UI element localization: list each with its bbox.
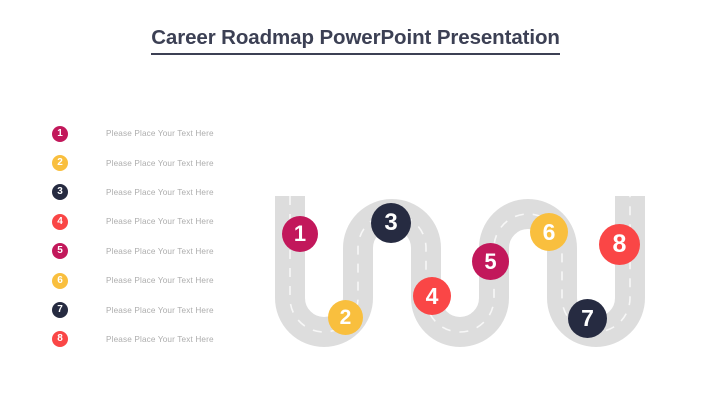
legend-step-badge: 6 <box>52 273 68 289</box>
legend-item-label: Please Place Your Text Here <box>106 247 214 256</box>
legend-step-badge: 3 <box>52 184 68 200</box>
legend-step-badge: 8 <box>52 331 68 347</box>
roadmap-milestone-node[interactable]: 5 <box>472 243 509 280</box>
roadmap-milestone-node[interactable]: 2 <box>328 300 363 335</box>
roadmap-diagram: 12345678 <box>258 186 678 358</box>
roadmap-milestone-node[interactable]: 3 <box>371 203 411 243</box>
legend-item[interactable]: 1Please Place Your Text Here <box>52 119 252 148</box>
legend-item[interactable]: 5Please Place Your Text Here <box>52 237 252 266</box>
legend-item[interactable]: 7Please Place Your Text Here <box>52 295 252 324</box>
legend-item-label: Please Place Your Text Here <box>106 335 214 344</box>
roadmap-milestone-node[interactable]: 6 <box>530 213 568 251</box>
legend-item-label: Please Place Your Text Here <box>106 306 214 315</box>
legend-item-label: Please Place Your Text Here <box>106 276 214 285</box>
page-title: Career Roadmap PowerPoint Presentation <box>151 26 560 55</box>
legend-item-label: Please Place Your Text Here <box>106 188 214 197</box>
roadmap-milestone-node[interactable]: 8 <box>599 224 640 265</box>
legend-item[interactable]: 6Please Place Your Text Here <box>52 266 252 295</box>
legend-item[interactable]: 3Please Place Your Text Here <box>52 178 252 207</box>
road-path-graphic <box>258 186 678 358</box>
roadmap-milestone-node[interactable]: 1 <box>282 216 318 252</box>
legend-step-badge: 4 <box>52 214 68 230</box>
legend-step-badge: 1 <box>52 126 68 142</box>
legend-item-label: Please Place Your Text Here <box>106 217 214 226</box>
legend-item[interactable]: 8Please Place Your Text Here <box>52 325 252 354</box>
legend-step-badge: 5 <box>52 243 68 259</box>
legend-item-label: Please Place Your Text Here <box>106 129 214 138</box>
legend-item[interactable]: 4Please Place Your Text Here <box>52 207 252 236</box>
legend-item-label: Please Place Your Text Here <box>106 159 214 168</box>
legend-list: 1Please Place Your Text Here2Please Plac… <box>52 119 252 354</box>
roadmap-milestone-node[interactable]: 4 <box>413 277 451 315</box>
roadmap-milestone-node[interactable]: 7 <box>568 299 607 338</box>
legend-item[interactable]: 2Please Place Your Text Here <box>52 148 252 177</box>
page-title-container: Career Roadmap PowerPoint Presentation <box>0 26 711 55</box>
legend-step-badge: 2 <box>52 155 68 171</box>
legend-step-badge: 7 <box>52 302 68 318</box>
